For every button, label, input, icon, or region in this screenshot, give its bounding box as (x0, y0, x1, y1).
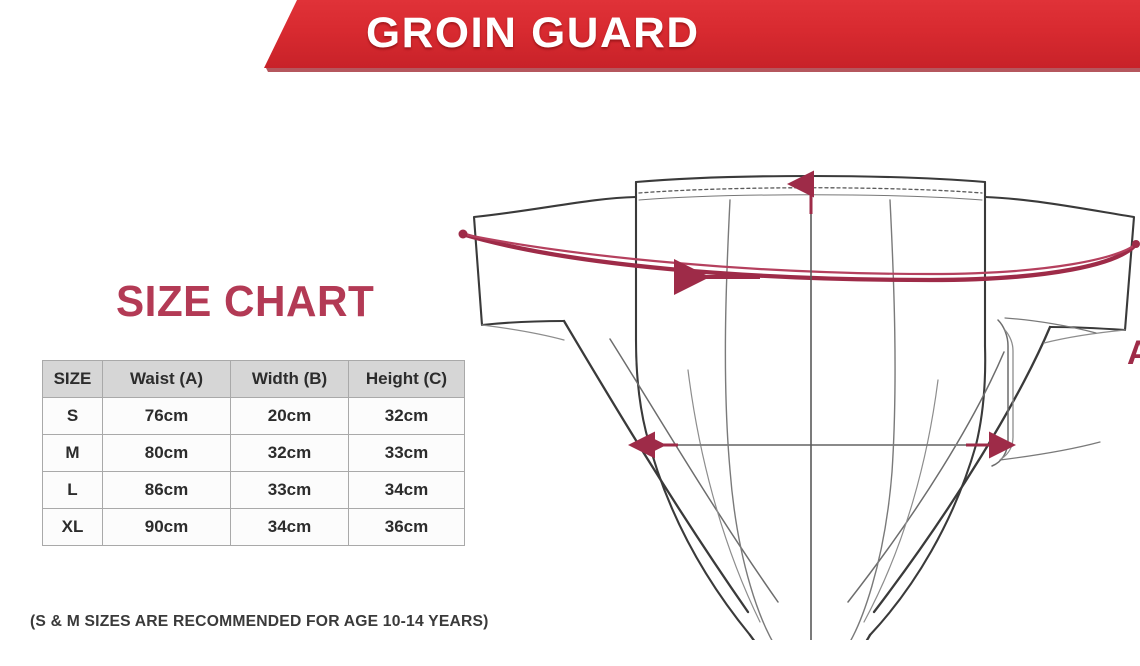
size-chart-heading: SIZE CHART (116, 277, 374, 327)
header-banner: GROIN GUARD (0, 0, 1140, 72)
cell-size: L (43, 472, 103, 509)
cell-waist: 86cm (103, 472, 231, 509)
table-row: M 80cm 32cm 33cm (43, 435, 465, 472)
size-chart-table: SIZE Waist (A) Width (B) Height (C) S 76… (42, 360, 465, 546)
banner-bottom-shadow (266, 68, 1140, 72)
left-thigh-strap-inner (610, 339, 778, 602)
cell-width: 20cm (231, 398, 349, 435)
measure-a-waist (459, 230, 1140, 281)
right-thigh-strap-outer (874, 327, 1050, 612)
column-header-size: SIZE (43, 361, 103, 398)
size-recommendation-note: (S & M SIZES ARE RECOMMENDED FOR AGE 10-… (30, 613, 489, 631)
right-thigh-strap-inner (848, 352, 1004, 602)
measure-label-a: A (1127, 336, 1140, 370)
right-belt-top-edge (1005, 318, 1096, 333)
right-belt-lower-edge (1044, 330, 1125, 343)
strap-loop-outer (992, 320, 1008, 466)
cell-size: S (43, 398, 103, 435)
right-belt-wing (985, 197, 1134, 330)
size-chart-page: GROIN GUARD SIZE CHART SIZE Waist (A) Wi… (0, 0, 1140, 666)
table-row: L 86cm 33cm 34cm (43, 472, 465, 509)
page-title: GROIN GUARD (366, 5, 700, 61)
cell-width: 32cm (231, 435, 349, 472)
table-header-row: SIZE Waist (A) Width (B) Height (C) (43, 361, 465, 398)
cell-width: 34cm (231, 509, 349, 546)
cell-width: 33cm (231, 472, 349, 509)
groin-guard-drawing-svg (430, 140, 1140, 640)
cell-waist: 76cm (103, 398, 231, 435)
pouch-seam-left (725, 200, 782, 640)
cell-size: M (43, 435, 103, 472)
measure-a-right-endpoint (1132, 240, 1140, 248)
center-band-top (636, 176, 985, 182)
inner-panel-right (864, 380, 938, 622)
cell-waist: 90cm (103, 509, 231, 546)
measure-a-wrap-line (462, 234, 1136, 280)
cell-size: XL (43, 509, 103, 546)
cell-waist: 80cm (103, 435, 231, 472)
right-belt-fold-line (1000, 442, 1100, 460)
groin-guard-diagram: A B C (430, 140, 1140, 640)
column-header-waist: Waist (A) (103, 361, 231, 398)
left-belt-lower-edge (482, 325, 564, 340)
measure-a-left-endpoint (459, 230, 468, 239)
table-row: S 76cm 20cm 32cm (43, 398, 465, 435)
column-header-width: Width (B) (231, 361, 349, 398)
table-row: XL 90cm 34cm 36cm (43, 509, 465, 546)
strap-loop-inner (1001, 330, 1013, 459)
garment-outline (474, 176, 1134, 640)
